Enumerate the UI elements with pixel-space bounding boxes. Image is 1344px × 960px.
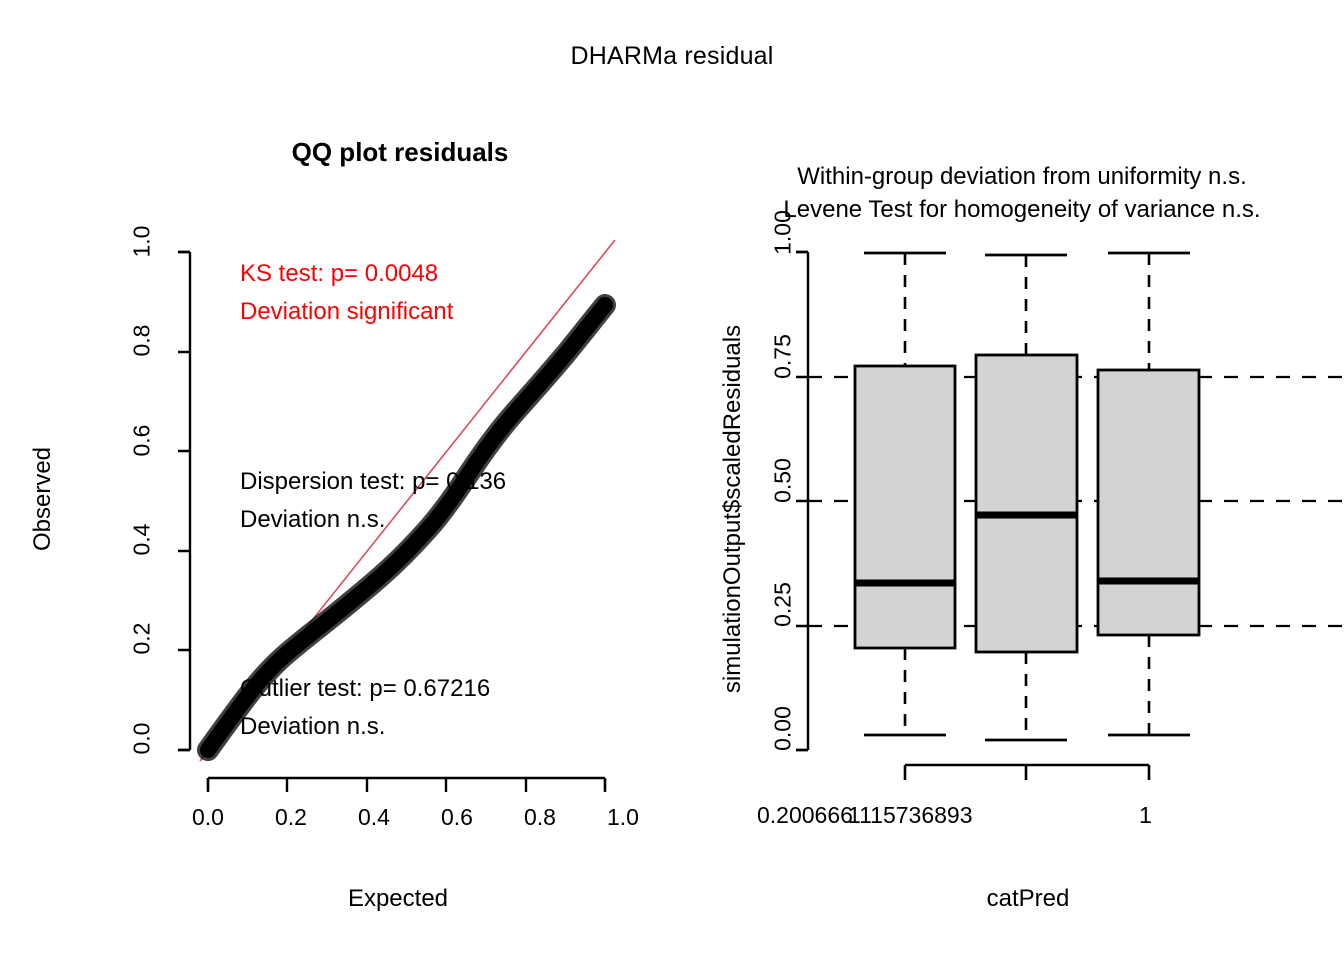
qq-y-ticks bbox=[178, 252, 190, 750]
boxplot-title-line1: Within-group deviation from uniformity n… bbox=[700, 160, 1344, 193]
box-2-iqr-rect bbox=[976, 355, 1077, 652]
boxplot-box-3 bbox=[1098, 253, 1199, 735]
dispersion-test-line2: Deviation n.s. bbox=[240, 501, 506, 539]
ks-test-line1: KS test: p= 0.0048 bbox=[240, 255, 453, 293]
boxplot-x-axis-label: catPred bbox=[828, 885, 1228, 913]
box-1-iqr-rect bbox=[855, 366, 955, 648]
qq-y-axis-line bbox=[178, 252, 190, 750]
ks-test-line2: Deviation significant bbox=[240, 293, 453, 331]
boxplot-box-1 bbox=[855, 253, 955, 735]
box-3-iqr-rect bbox=[1098, 370, 1199, 635]
figure-canvas: DHARMa residual QQ plot residuals Observ… bbox=[0, 0, 1344, 960]
qq-x-ticks bbox=[208, 778, 605, 792]
qq-x-axis-label: Expected bbox=[190, 885, 606, 913]
main-title: DHARMa residual bbox=[0, 42, 1344, 71]
boxplot-x-axis-line bbox=[905, 765, 1149, 780]
dispersion-test-annotation: Dispersion test: p= 0.136 Deviation n.s. bbox=[240, 463, 506, 539]
boxplot-box-2 bbox=[976, 255, 1077, 740]
dispersion-test-line1: Dispersion test: p= 0.136 bbox=[240, 463, 506, 501]
outlier-test-annotation: Outlier test: p= 0.67216 Deviation n.s. bbox=[240, 670, 490, 746]
qq-x-axis-line bbox=[208, 778, 605, 790]
outlier-test-line2: Deviation n.s. bbox=[240, 708, 490, 746]
boxplot-y-ticks bbox=[796, 252, 808, 750]
outlier-test-line1: Outlier test: p= 0.67216 bbox=[240, 670, 490, 708]
boxplot-plot-area bbox=[740, 200, 1344, 820]
qq-plot-title: QQ plot residuals bbox=[100, 137, 700, 168]
ks-test-annotation: KS test: p= 0.0048 Deviation significant bbox=[240, 255, 453, 331]
qq-y-axis-label: Observed bbox=[29, 399, 57, 599]
